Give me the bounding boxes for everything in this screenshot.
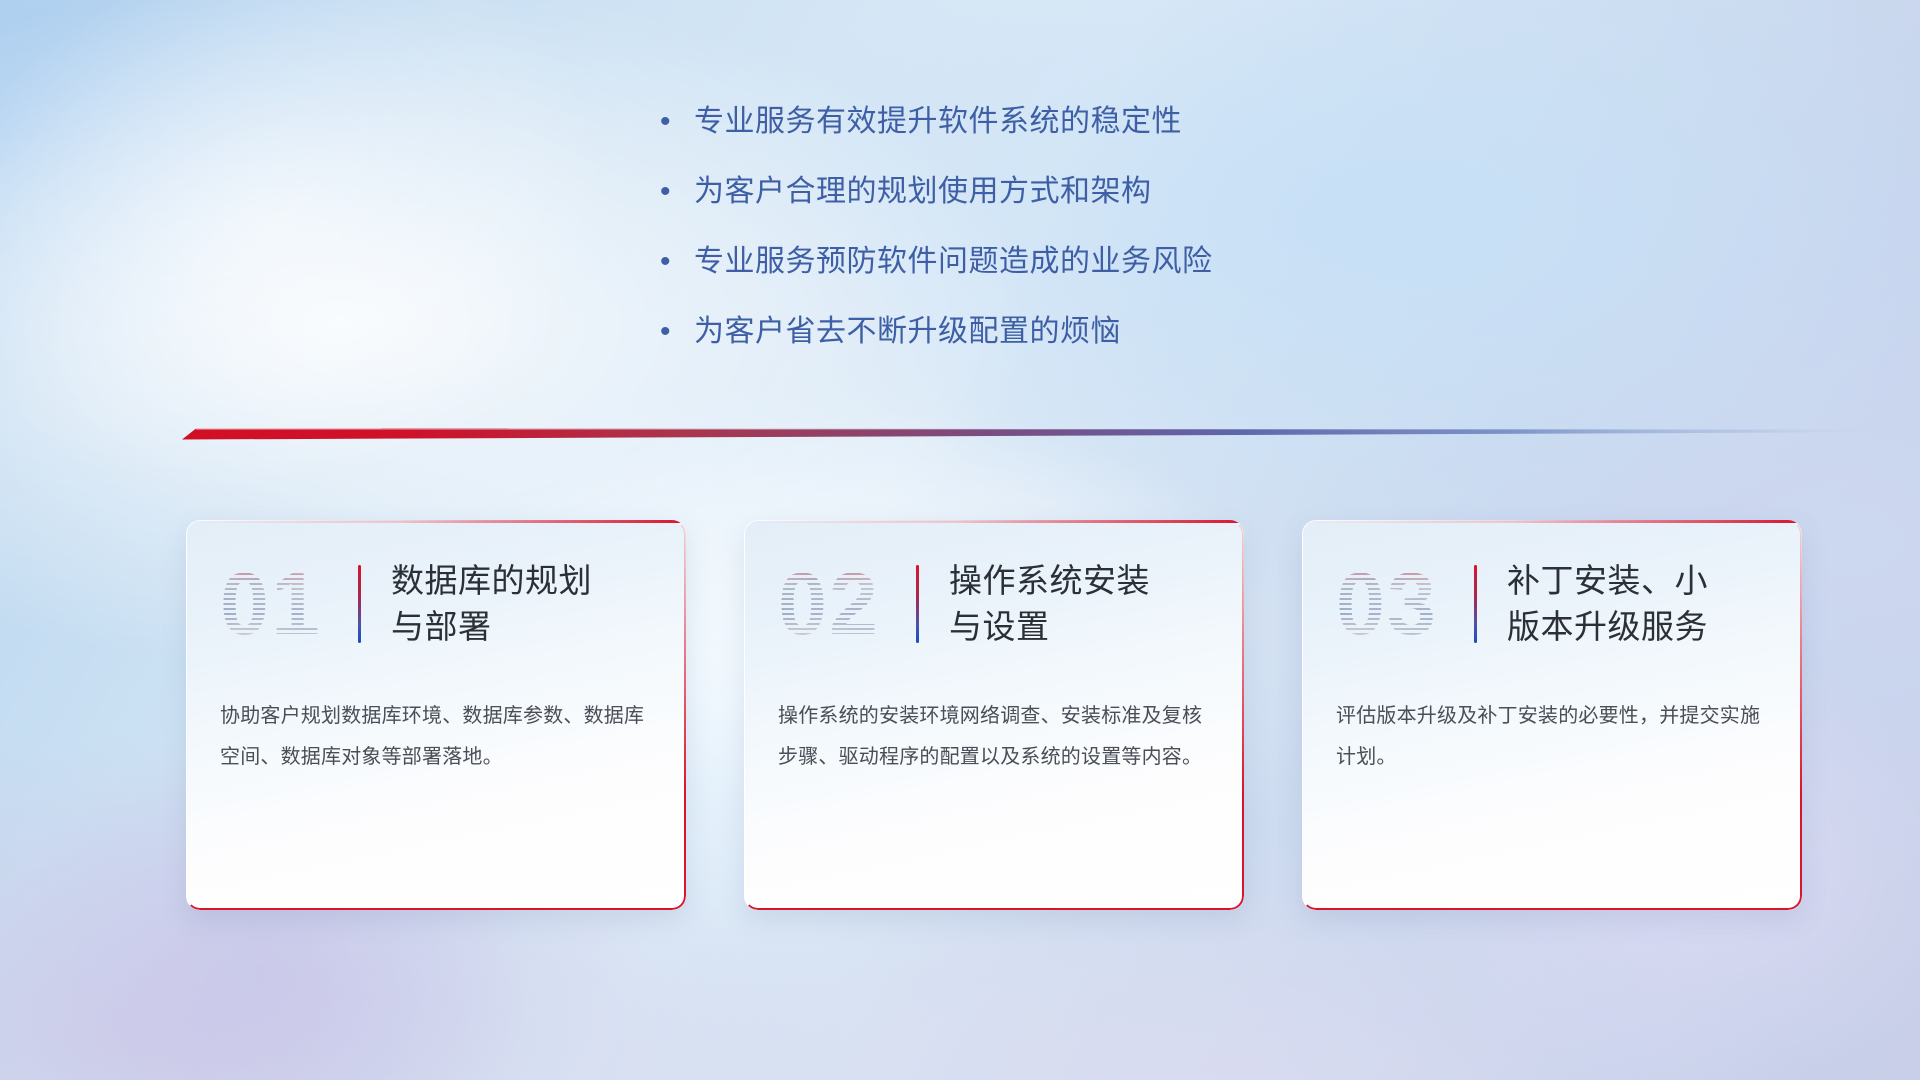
bullet-dot-icon: • [660,170,694,214]
card-ghost-number-tint: 03 [1336,548,1438,660]
card-title-line-1: 操作系统安装 [949,558,1150,604]
card-header: 01 01 数据库的规划 与部署 [220,548,658,660]
bullet-text: 为客户省去不断升级配置的烦恼 [694,310,1121,354]
card-title: 数据库的规划 与部署 [391,558,592,650]
card-title-line-2: 版本升级服务 [1507,604,1708,650]
list-item: • 专业服务预防软件问题造成的业务风险 [660,240,1560,284]
bullet-dot-icon: • [660,240,694,284]
card-body-text: 协助客户规划数据库环境、数据库参数、数据库空间、数据库对象等部署落地。 [220,696,652,778]
card-header: 03 03 补丁安装、小 版本升级服务 [1336,548,1774,660]
card-title: 操作系统安装 与设置 [949,558,1150,650]
card-header: 02 02 操作系统安装 与设置 [778,548,1216,660]
card-title-divider-bar [1474,565,1477,643]
benefits-bullet-list: • 专业服务有效提升软件系统的稳定性 • 为客户合理的规划使用方式和架构 • 专… [660,100,1560,380]
card-title-line-1: 补丁安装、小 [1507,558,1708,604]
card-top-accent [744,520,1244,523]
bullet-text: 专业服务有效提升软件系统的稳定性 [694,100,1182,144]
card-title-divider-bar [916,565,919,643]
bullet-text: 专业服务预防软件问题造成的业务风险 [694,240,1213,284]
card-title-line-2: 与部署 [391,604,592,650]
service-card-list: 01 01 数据库的规划 与部署 协助客户规划数据库环境、数据库参数、数据库空间… [186,520,1802,910]
service-card-03[interactable]: 03 03 补丁安装、小 版本升级服务 评估版本升级及补丁安装的必要性，并提交实… [1302,520,1802,910]
card-title: 补丁安装、小 版本升级服务 [1507,558,1708,650]
card-body-text: 操作系统的安装环境网络调查、安装标准及复核步骤、驱动程序的配置以及系统的设置等内… [778,696,1210,778]
list-item: • 为客户省去不断升级配置的烦恼 [660,310,1560,354]
section-divider [182,418,1882,444]
card-body-text: 评估版本升级及补丁安装的必要性，并提交实施计划。 [1336,696,1768,778]
card-title-divider-bar [358,565,361,643]
card-top-accent [186,520,686,523]
card-title-line-1: 数据库的规划 [391,558,592,604]
bullet-dot-icon: • [660,310,694,354]
card-ghost-number: 02 02 [778,548,904,660]
list-item: • 为客户合理的规划使用方式和架构 [660,170,1560,214]
list-item: • 专业服务有效提升软件系统的稳定性 [660,100,1560,144]
card-top-accent [1302,520,1802,523]
slide-root: • 专业服务有效提升软件系统的稳定性 • 为客户合理的规划使用方式和架构 • 专… [0,0,1920,1080]
bullet-text: 为客户合理的规划使用方式和架构 [694,170,1152,214]
service-card-01[interactable]: 01 01 数据库的规划 与部署 协助客户规划数据库环境、数据库参数、数据库空间… [186,520,686,910]
card-ghost-number-tint: 02 [778,548,880,660]
bullet-dot-icon: • [660,100,694,144]
card-ghost-number: 03 03 [1336,548,1462,660]
service-card-02[interactable]: 02 02 操作系统安装 与设置 操作系统的安装环境网络调查、安装标准及复核步骤… [744,520,1244,910]
card-ghost-number: 01 01 [220,548,346,660]
card-title-line-2: 与设置 [949,604,1150,650]
card-ghost-number-tint: 01 [220,548,322,660]
